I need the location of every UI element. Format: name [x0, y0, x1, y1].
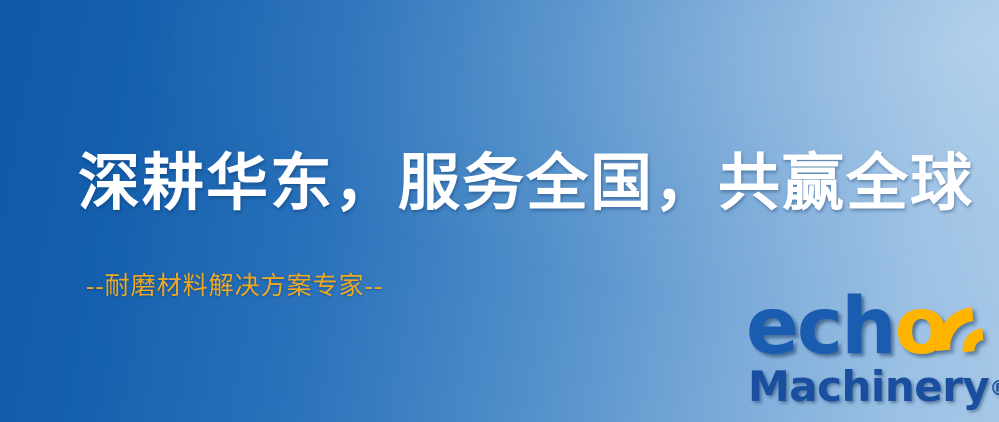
banner-headline: 深耕华东，服务全国，共赢全球: [78, 148, 974, 221]
logo-registered-mark: ®: [989, 376, 999, 400]
logo-wordmark: Machinery®: [748, 366, 999, 409]
banner-subtitle: --耐磨材料解决方案专家--: [86, 266, 383, 302]
logo-brand-prefix: ech: [746, 282, 895, 372]
promo-banner: 深耕华东，服务全国，共赢全球 --耐磨材料解决方案专家-- echo Machi…: [0, 0, 999, 422]
logo-brand-text: echo: [746, 288, 946, 366]
signal-waves-icon: [928, 290, 999, 364]
logo-wordmark-text: Machinery: [748, 362, 989, 411]
echo-machinery-logo: echo Machinery®: [742, 288, 999, 422]
